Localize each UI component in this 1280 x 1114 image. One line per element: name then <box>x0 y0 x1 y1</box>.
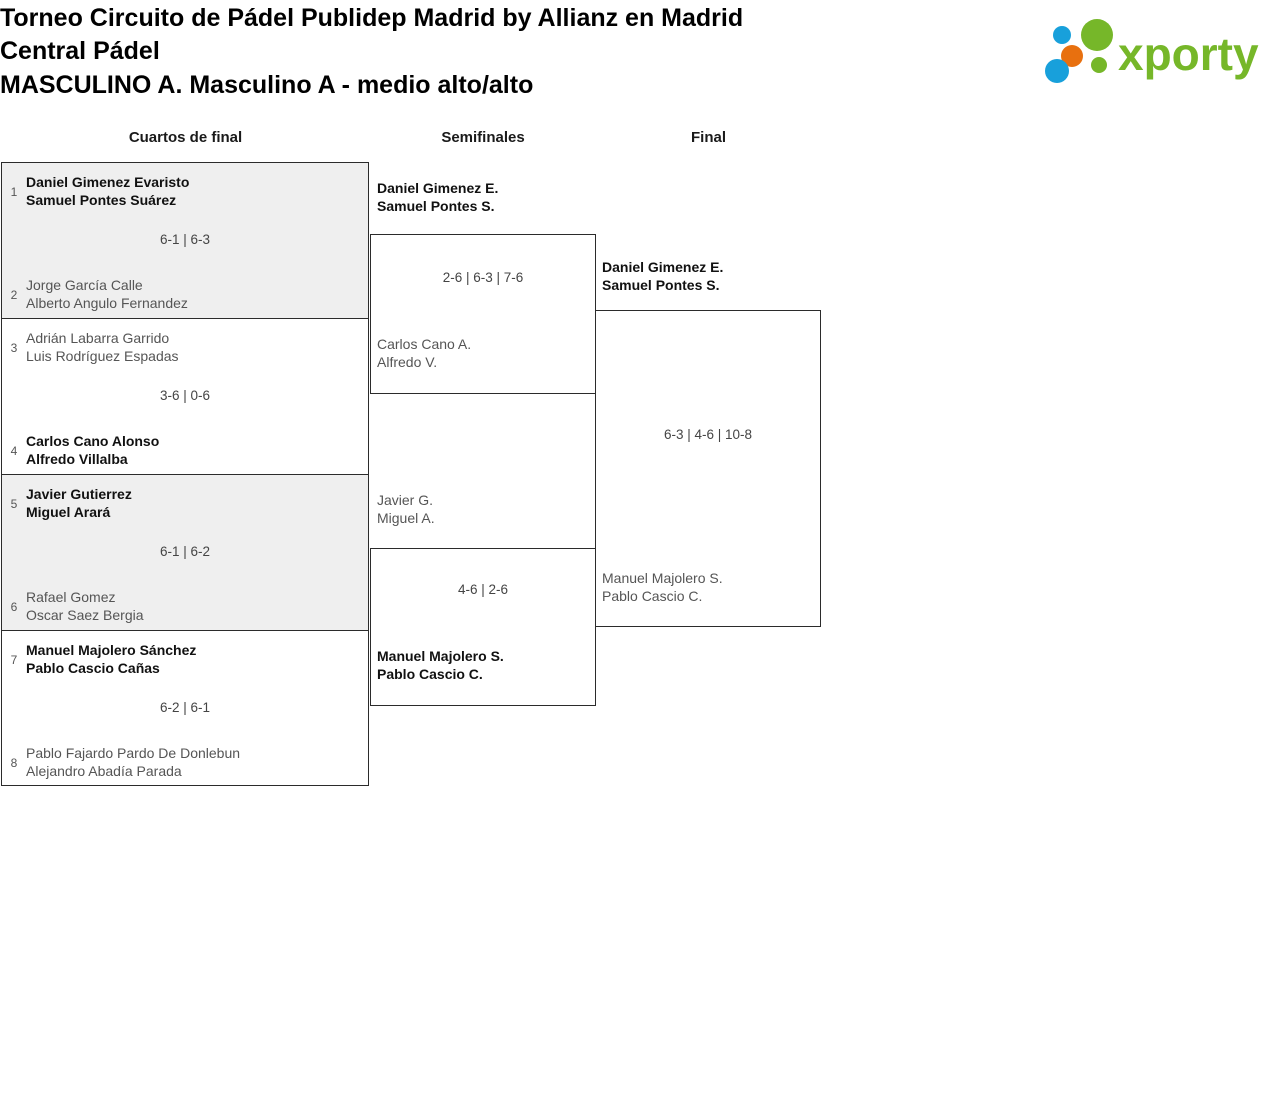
player-name: Samuel Pontes S. <box>602 277 723 295</box>
player-name: Daniel Gimenez E. <box>377 180 498 198</box>
team-row[interactable]: 2 Jorge García Calle Alberto Angulo Fern… <box>2 274 368 316</box>
player-name: Pablo Cascio C. <box>377 666 504 684</box>
player-name: Javier Gutierrez <box>26 486 132 504</box>
match-score: 6-1 | 6-2 <box>2 544 368 559</box>
match-score: 2-6 | 6-3 | 7-6 <box>371 270 595 285</box>
player-name: Luis Rodríguez Espadas <box>26 348 179 366</box>
player-name: Alejandro Abadía Parada <box>26 763 240 781</box>
player-name: Carlos Cano Alonso <box>26 433 159 451</box>
team-names: Manuel Majolero Sánchez Pablo Cascio Cañ… <box>26 642 196 678</box>
player-name: Alberto Angulo Fernandez <box>26 295 188 313</box>
player-name: Daniel Gimenez Evaristo <box>26 174 189 192</box>
final-top-team[interactable]: Daniel Gimenez E. Samuel Pontes S. <box>602 259 723 295</box>
team-row[interactable]: 6 Rafael Gomez Oscar Saez Bergia <box>2 586 368 628</box>
player-name: Manuel Majolero S. <box>377 648 504 666</box>
team-names: Pablo Fajardo Pardo De Donlebun Alejandr… <box>26 745 240 781</box>
seed-number: 7 <box>2 654 26 666</box>
team-row[interactable]: 8 Pablo Fajardo Pardo De Donlebun Alejan… <box>2 742 368 784</box>
player-name: Miguel Arará <box>26 504 132 522</box>
player-name: Pablo Fajardo Pardo De Donlebun <box>26 745 240 763</box>
match-score: 4-6 | 2-6 <box>371 582 595 597</box>
player-name: Alfredo Villalba <box>26 451 159 469</box>
team-row[interactable]: 4 Carlos Cano Alonso Alfredo Villalba <box>2 430 368 472</box>
player-name: Carlos Cano A. <box>377 336 471 354</box>
player-name: Pablo Cascio C. <box>602 588 723 606</box>
seed-number: 8 <box>2 757 26 769</box>
player-name: Jorge García Calle <box>26 277 188 295</box>
team-row[interactable]: 7 Manuel Majolero Sánchez Pablo Cascio C… <box>2 639 368 681</box>
team-row[interactable]: 3 Adrián Labarra Garrido Luis Rodríguez … <box>2 327 368 369</box>
team-row[interactable]: 5 Javier Gutierrez Miguel Arará <box>2 483 368 525</box>
seed-number: 6 <box>2 601 26 613</box>
match-quarterfinal-4[interactable]: 7 Manuel Majolero Sánchez Pablo Cascio C… <box>1 630 369 786</box>
player-name: Adrián Labarra Garrido <box>26 330 179 348</box>
seed-number: 5 <box>2 498 26 510</box>
player-name: Alfredo V. <box>377 354 471 372</box>
match-score: 3-6 | 0-6 <box>2 388 368 403</box>
match-score: 6-3 | 4-6 | 10-8 <box>596 427 820 442</box>
seed-number: 4 <box>2 445 26 457</box>
seed-number: 3 <box>2 342 26 354</box>
seed-number: 1 <box>2 186 26 198</box>
match-score: 6-1 | 6-3 <box>2 232 368 247</box>
semifinal-1-bottom-team[interactable]: Carlos Cano A. Alfredo V. <box>377 336 471 372</box>
semifinal-1-top-team[interactable]: Daniel Gimenez E. Samuel Pontes S. <box>377 180 498 216</box>
team-names: Jorge García Calle Alberto Angulo Fernan… <box>26 277 188 313</box>
player-name: Pablo Cascio Cañas <box>26 660 196 678</box>
final-bottom-team[interactable]: Manuel Majolero S. Pablo Cascio C. <box>602 570 723 606</box>
player-name: Javier G. <box>377 492 435 510</box>
match-quarterfinal-3[interactable]: 5 Javier Gutierrez Miguel Arará 6-1 | 6-… <box>1 474 369 630</box>
team-names: Javier Gutierrez Miguel Arará <box>26 486 132 522</box>
team-row[interactable]: 1 Daniel Gimenez Evaristo Samuel Pontes … <box>2 171 368 213</box>
bracket: 1 Daniel Gimenez Evaristo Samuel Pontes … <box>0 0 1280 1114</box>
semifinal-2-bottom-team[interactable]: Manuel Majolero S. Pablo Cascio C. <box>377 648 504 684</box>
team-names: Carlos Cano Alonso Alfredo Villalba <box>26 433 159 469</box>
player-name: Oscar Saez Bergia <box>26 607 144 625</box>
match-score: 6-2 | 6-1 <box>2 700 368 715</box>
player-name: Manuel Majolero Sánchez <box>26 642 196 660</box>
match-quarterfinal-1[interactable]: 1 Daniel Gimenez Evaristo Samuel Pontes … <box>1 162 369 318</box>
seed-number: 2 <box>2 289 26 301</box>
player-name: Daniel Gimenez E. <box>602 259 723 277</box>
player-name: Miguel A. <box>377 510 435 528</box>
team-names: Rafael Gomez Oscar Saez Bergia <box>26 589 144 625</box>
match-quarterfinal-2[interactable]: 3 Adrián Labarra Garrido Luis Rodríguez … <box>1 318 369 474</box>
team-names: Adrián Labarra Garrido Luis Rodríguez Es… <box>26 330 179 366</box>
player-name: Rafael Gomez <box>26 589 144 607</box>
team-names: Daniel Gimenez Evaristo Samuel Pontes Su… <box>26 174 189 210</box>
player-name: Samuel Pontes Suárez <box>26 192 189 210</box>
player-name: Samuel Pontes S. <box>377 198 498 216</box>
semifinal-2-top-team[interactable]: Javier G. Miguel A. <box>377 492 435 528</box>
player-name: Manuel Majolero S. <box>602 570 723 588</box>
